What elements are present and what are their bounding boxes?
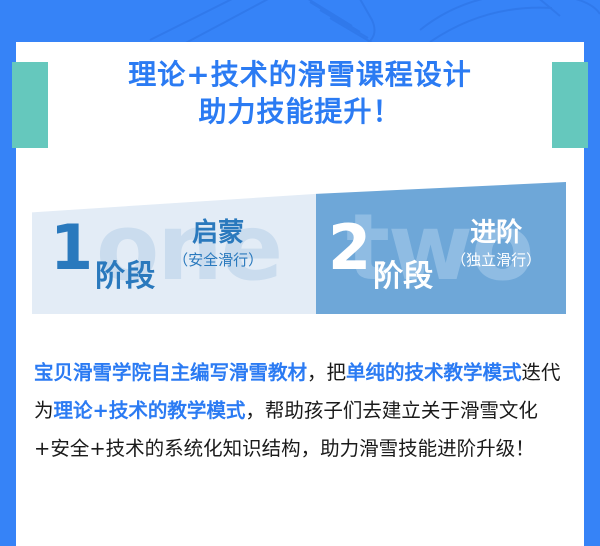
body-highlight-3: 理论+技术的教学模式	[54, 399, 246, 422]
body-highlight-2: 单纯的技术教学模式	[346, 361, 522, 384]
body-highlight-1: 宝贝滑雪学院自主编写滑雪教材	[34, 361, 307, 384]
stage-2-labels: 进阶 （独立滑行）	[451, 218, 541, 270]
title-line-1: 理论+技术的滑雪课程设计	[128, 58, 471, 91]
stage-1-number: 1	[50, 219, 93, 277]
stage-1-level: 启蒙	[173, 218, 263, 248]
content-card: 理论+技术的滑雪课程设计助力技能提升！ one two 1 阶段 启蒙 （安全滑…	[16, 42, 584, 546]
stage-1-word: 阶段	[95, 262, 155, 292]
accent-bar-left	[12, 62, 48, 148]
stage-2-level: 进阶	[451, 218, 541, 248]
accent-bar-right	[552, 62, 588, 148]
body-plain-1: ，把	[307, 361, 346, 384]
stage-1-labels: 启蒙 （安全滑行）	[173, 218, 263, 270]
stages-clip: one two 1 阶段 启蒙 （安全滑行） 2 阶段 进阶 （独立滑行）	[16, 182, 584, 314]
stage-2-word: 阶段	[373, 262, 433, 292]
stage-2-note: （独立滑行）	[451, 250, 541, 270]
stage-2-content: 2 阶段 进阶 （独立滑行）	[328, 182, 541, 314]
body-paragraph: 宝贝滑雪学院自主编写滑雪教材，把单纯的技术教学模式迭代为理论+技术的教学模式，帮…	[34, 354, 564, 468]
stages-banner: one two 1 阶段 启蒙 （安全滑行） 2 阶段 进阶 （独立滑行）	[16, 182, 584, 314]
page-title: 理论+技术的滑雪课程设计助力技能提升！	[56, 56, 544, 130]
title-section: 理论+技术的滑雪课程设计助力技能提升！	[16, 42, 584, 168]
stage-2-number: 2	[328, 219, 371, 277]
title-line-2: 助力技能提升！	[198, 95, 401, 128]
ski-graphic-watermark	[0, 0, 600, 42]
poster-root: 理论+技术的滑雪课程设计助力技能提升！ one two 1 阶段 启蒙 （安全滑…	[0, 0, 600, 546]
stage-1-note: （安全滑行）	[173, 250, 263, 270]
stage-1-content: 1 阶段 启蒙 （安全滑行）	[50, 182, 263, 314]
